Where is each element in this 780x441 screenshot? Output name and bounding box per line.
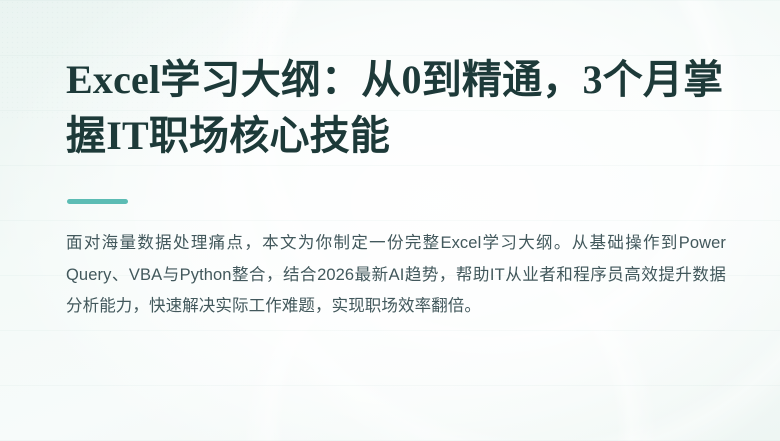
accent-divider: [67, 199, 128, 204]
page-title: Excel学习大纲：从0到精通，3个月掌握IT职场核心技能: [66, 52, 726, 164]
article-content: Excel学习大纲：从0到精通，3个月掌握IT职场核心技能 面对海量数据处理痛点…: [66, 0, 726, 441]
article-summary: 面对海量数据处理痛点，本文为你制定一份完整Excel学习大纲。从基础操作到Pow…: [66, 228, 726, 323]
article-hero-card: Excel学习大纲：从0到精通，3个月掌握IT职场核心技能 面对海量数据处理痛点…: [0, 0, 780, 441]
